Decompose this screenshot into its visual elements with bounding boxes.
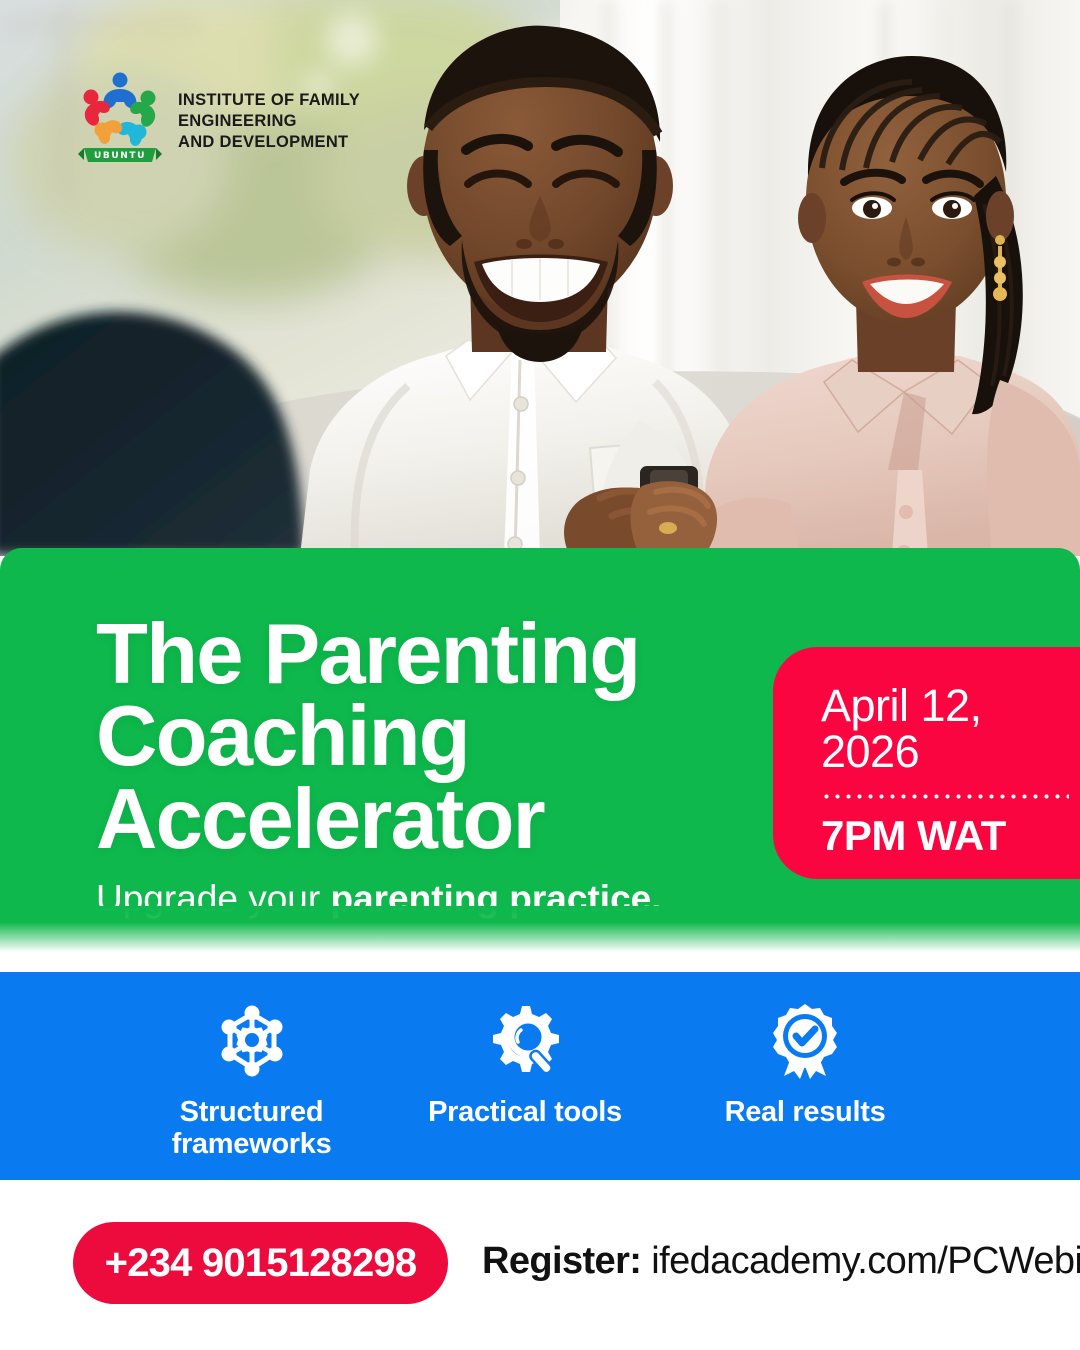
feature-label: Practical tools (400, 1096, 650, 1128)
event-date-badge: April 12, 2026 7PM WAT (773, 647, 1080, 879)
feature-label: Real results (685, 1096, 925, 1128)
ubuntu-people-circle-logo-icon: UBUNTU (76, 68, 164, 168)
register-url: ifedacademy.com/PCWebinar (641, 1240, 1080, 1282)
page-title: The Parenting Coaching Accelerator (96, 614, 639, 861)
event-date-line-2: 2026 (821, 729, 1080, 775)
network-gear-icon-svg (213, 1002, 291, 1080)
subtitle-light: Upgrade your (96, 878, 330, 919)
org-line-3: AND DEVELOPMENT (178, 132, 360, 153)
network-gear-icon (134, 1002, 369, 1080)
feature-item-real-results: Real results (685, 1002, 925, 1128)
gear-magnifier-icon (400, 1002, 650, 1080)
feature-label: Structured frameworks (134, 1096, 369, 1161)
logo-svg: UBUNTU (76, 68, 164, 168)
feature-label-line-2: frameworks (134, 1128, 369, 1160)
subtitle: Upgrade your parenting practice. (96, 878, 662, 920)
brand-logo: UBUNTU INSTITUTE OF FAMILY ENGINEERING A… (76, 68, 360, 168)
feature-item-practical-tools: Practical tools (400, 1002, 650, 1128)
feature-label-line-1: Real results (685, 1096, 925, 1128)
feature-item-structured-frameworks: Structured frameworks (134, 1002, 369, 1161)
gear-magnifier-icon-svg (486, 1002, 564, 1080)
features-panel: Structured frameworks (0, 972, 1080, 1180)
event-date-line-1: April 12, (821, 683, 1080, 729)
register-label: Register: (482, 1240, 641, 1282)
register-line[interactable]: Register: ifedacademy.com/PCWebinar (482, 1240, 1080, 1283)
headline-line-3: Accelerator (96, 779, 639, 861)
award-ribbon-check-icon (685, 1002, 925, 1080)
event-time: 7PM WAT (821, 812, 1080, 860)
subtitle-bold: parenting practice. (330, 878, 661, 919)
svg-text:UBUNTU: UBUNTU (94, 151, 146, 161)
headline-line-2: Coaching (96, 696, 639, 778)
dotted-divider (821, 793, 1069, 800)
phone-number: +234 9015128298 (105, 1241, 417, 1286)
org-name: INSTITUTE OF FAMILY ENGINEERING AND DEVE… (178, 68, 360, 152)
headline-line-1: The Parenting (96, 614, 639, 696)
feature-label-line-1: Structured (134, 1096, 369, 1128)
phone-button[interactable]: +234 9015128298 (73, 1222, 448, 1304)
footer-bar: +234 9015128298 Register: ifedacademy.co… (0, 1180, 1080, 1350)
features-list: Structured frameworks (0, 972, 1080, 1180)
org-line-2: ENGINEERING (178, 111, 360, 132)
poster-canvas: UBUNTU INSTITUTE OF FAMILY ENGINEERING A… (0, 0, 1080, 1350)
award-ribbon-check-icon-svg (766, 1002, 844, 1080)
event-date: April 12, 2026 (821, 683, 1080, 775)
org-line-1: INSTITUTE OF FAMILY (178, 90, 360, 111)
green-top-fade (0, 548, 1080, 582)
feature-label-line-1: Practical tools (400, 1096, 650, 1128)
